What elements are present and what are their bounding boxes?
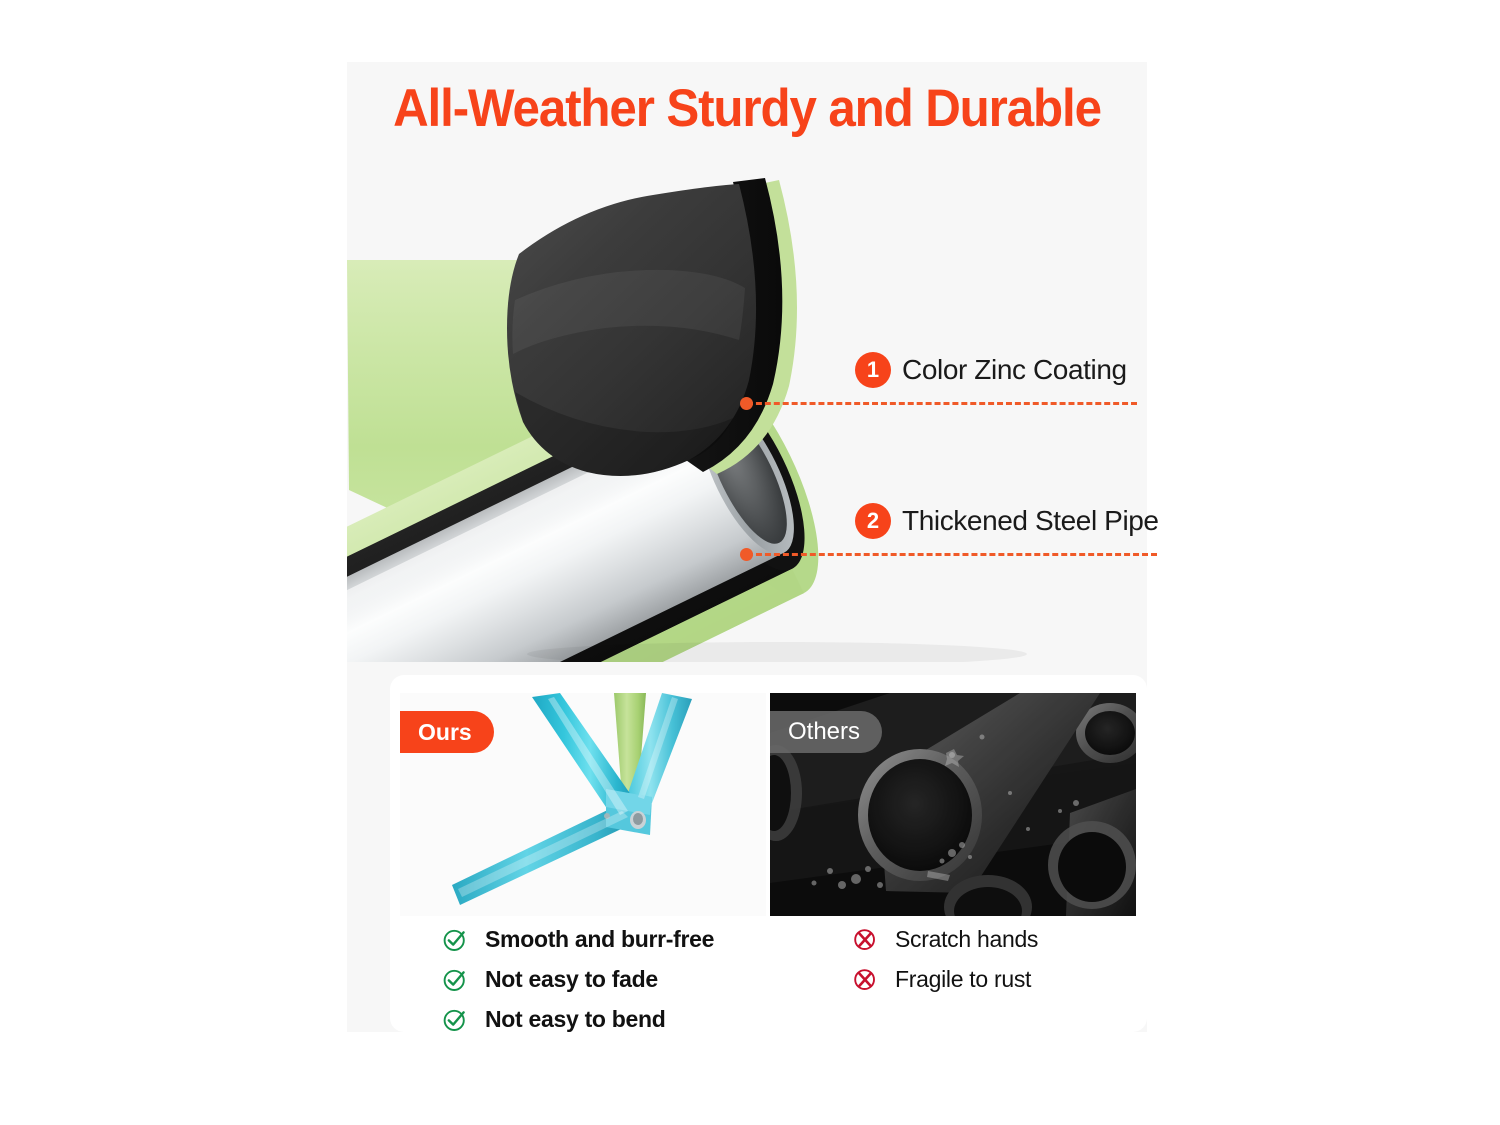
comparison-photos: Ours — [400, 693, 1137, 916]
x-circle-icon — [852, 927, 878, 953]
list-item: Fragile to rust — [852, 963, 1038, 996]
comparison-card: Ours — [390, 675, 1147, 1032]
feature-label: Not easy to fade — [485, 966, 658, 993]
page-title: All-Weather Sturdy and Durable — [375, 78, 1119, 139]
feature-label: Fragile to rust — [895, 966, 1031, 993]
others-badge: Others — [770, 711, 882, 753]
callout-thickened-steel-pipe: 2 Thickened Steel Pipe — [855, 503, 1159, 539]
list-item: Not easy to fade — [442, 963, 714, 996]
callout-label-1: Color Zinc Coating — [902, 354, 1127, 386]
check-circle-icon — [442, 1007, 468, 1033]
list-item: Scratch hands — [852, 923, 1038, 956]
ours-feature-list: Smooth and burr-free Not easy to fade No… — [442, 923, 714, 1043]
check-circle-icon — [442, 927, 468, 953]
leader-dot-2 — [740, 548, 753, 561]
callout-badge-1: 1 — [855, 352, 891, 388]
callout-label-2: Thickened Steel Pipe — [902, 505, 1159, 537]
peeled-coating-flap — [507, 178, 797, 476]
x-circle-icon — [852, 967, 878, 993]
leader-line-1 — [747, 402, 1137, 408]
check-circle-icon — [442, 967, 468, 993]
feature-label: Smooth and burr-free — [485, 926, 714, 953]
infographic-panel: All-Weather Sturdy and Durable — [347, 62, 1147, 1032]
feature-lists: Smooth and burr-free Not easy to fade No… — [390, 923, 1147, 1028]
callout-badge-2: 2 — [855, 503, 891, 539]
list-item: Not easy to bend — [442, 1003, 714, 1036]
callout-color-zinc-coating: 1 Color Zinc Coating — [855, 352, 1127, 388]
feature-label: Not easy to bend — [485, 1006, 666, 1033]
list-item: Smooth and burr-free — [442, 923, 714, 956]
others-feature-list: Scratch hands Fragile to rust — [852, 923, 1038, 1003]
others-photo: Others — [770, 693, 1136, 916]
leader-dot-1 — [740, 397, 753, 410]
feature-label: Scratch hands — [895, 926, 1038, 953]
ours-photo: Ours — [400, 693, 766, 916]
ours-badge: Ours — [400, 711, 494, 753]
leader-line-2 — [747, 553, 1157, 559]
